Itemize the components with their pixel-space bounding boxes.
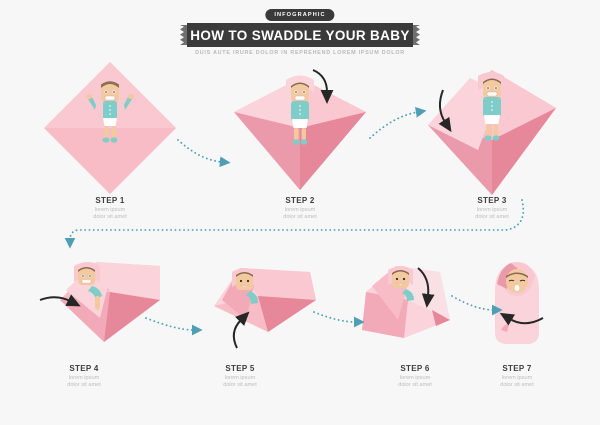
- step-sub-line1: lorem ipsum: [457, 375, 577, 382]
- illustration-step-4: [40, 262, 160, 342]
- connector-2-3: [370, 112, 418, 138]
- step-caption-4: STEP 4 lorem ipsum dolor sit amet: [24, 364, 144, 390]
- step-title: STEP 7: [457, 364, 577, 373]
- step-title: STEP 1: [50, 196, 170, 205]
- step-sub-line2: dolor sit amet: [50, 214, 170, 221]
- illustration-step-3: [428, 70, 556, 195]
- step-sub-line2: dolor sit amet: [180, 382, 300, 389]
- illustration-step-1: [44, 62, 176, 194]
- illustration-step-7: [495, 262, 543, 344]
- step-caption-1: STEP 1 lorem ipsum dolor sit amet: [50, 196, 170, 222]
- step-sub-line2: dolor sit amet: [240, 214, 360, 221]
- step-sub-line2: dolor sit amet: [457, 382, 577, 389]
- illustration-step-5: [214, 268, 316, 348]
- step-sub-line1: lorem ipsum: [180, 375, 300, 382]
- step-title: STEP 3: [432, 196, 552, 205]
- step-sub-line1: lorem ipsum: [24, 375, 144, 382]
- motion-arrow-step-5: [234, 320, 241, 348]
- illustration-step-6: [362, 266, 450, 338]
- connector-1-2: [178, 140, 222, 162]
- step-caption-5: STEP 5 lorem ipsum dolor sit amet: [180, 364, 300, 390]
- step-title: STEP 2: [240, 196, 360, 205]
- step-caption-3: STEP 3 lorem ipsum dolor sit amet: [432, 196, 552, 222]
- step-sub-line1: lorem ipsum: [240, 207, 360, 214]
- step-caption-2: STEP 2 lorem ipsum dolor sit amet: [240, 196, 360, 222]
- step-sub-line2: dolor sit amet: [24, 382, 144, 389]
- step-sub-line1: lorem ipsum: [50, 207, 170, 214]
- step-sub-line2: dolor sit amet: [432, 214, 552, 221]
- connector-6-7: [452, 296, 494, 310]
- step-title: STEP 5: [180, 364, 300, 373]
- connector-5-6: [314, 312, 356, 322]
- step-sub-line1: lorem ipsum: [432, 207, 552, 214]
- step-caption-7: STEP 7 lorem ipsum dolor sit amet: [457, 364, 577, 390]
- step-title: STEP 4: [24, 364, 144, 373]
- infographic-canvas: INFOGRAPHIC HOW TO SWADDLE YOUR BABY DUI…: [0, 0, 600, 425]
- illustration-step-2: [234, 70, 366, 190]
- connector-4-5: [146, 318, 194, 330]
